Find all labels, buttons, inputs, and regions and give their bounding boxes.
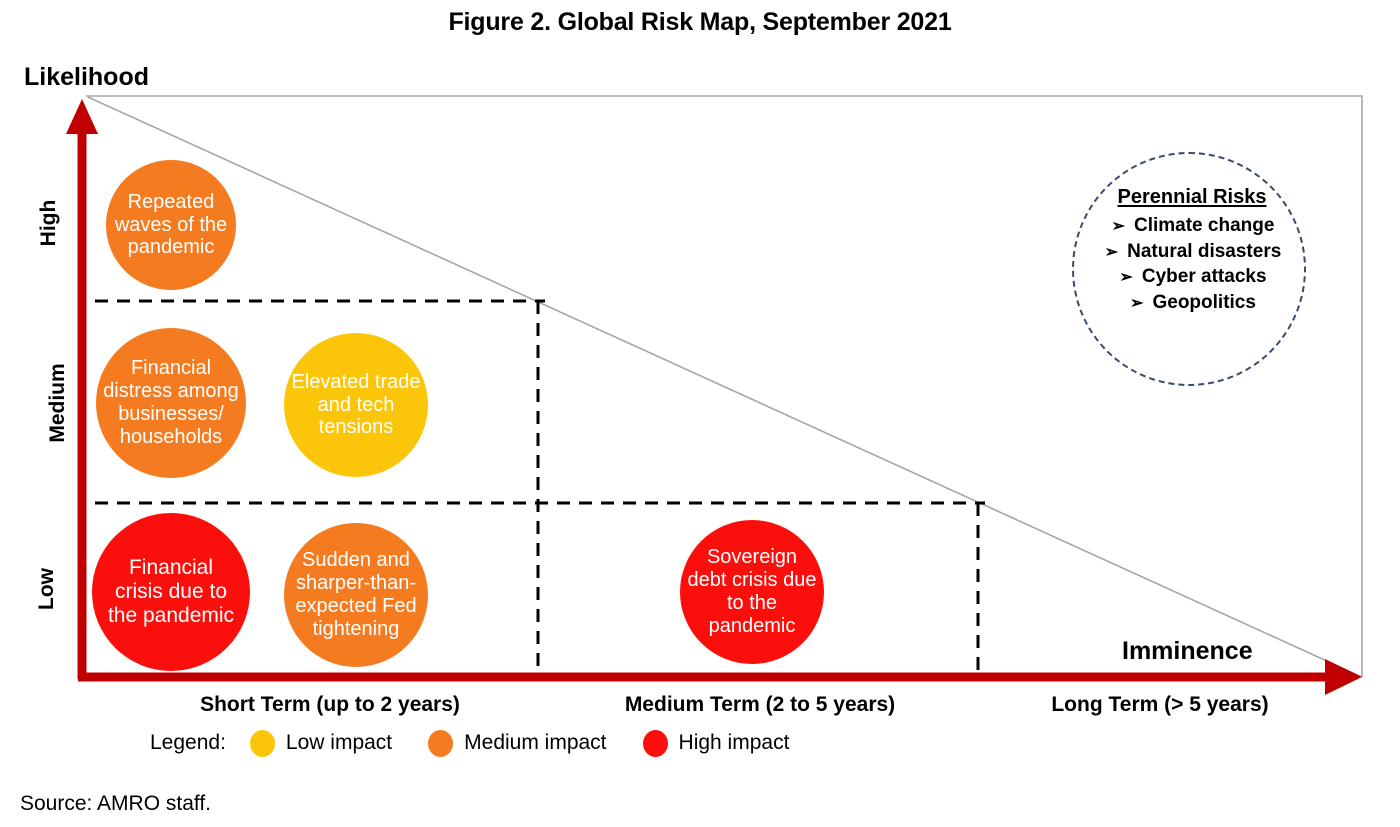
legend: Legend: Low impactMedium impactHigh impa… [150,727,825,759]
risk-bubble-financial-distress-among-businesses-households[interactable]: Financialdistress amongbusinesses/househ… [96,328,246,478]
x-axis-label-short-term: Short Term (up to 2 years) [110,693,550,717]
legend-color-swatch-icon [428,730,453,757]
y-axis-title: Likelihood [24,63,149,92]
y-axis-arrowhead [66,99,98,134]
legend-entry-label: High impact [679,731,790,755]
legend-entry: High impact [643,730,790,757]
legend-label: Legend: [150,731,226,755]
risk-bubble-financial-crisis-due-to-the-pandemic[interactable]: Financialcrisis due tothe pandemic [92,513,250,671]
legend-entry-label: Medium impact [464,731,606,755]
x-axis-arrowhead [1325,659,1362,695]
risk-map-figure: Figure 2. Global Risk Map, September 202… [0,0,1400,827]
risk-bubble-label: Sudden andsharper-than-expected Fedtight… [295,549,416,640]
risk-bubble-repeated-waves-of-the-pandemic[interactable]: Repeatedwaves of thepandemic [106,160,236,290]
arrow-bullet-icon: ➢ [1105,242,1118,264]
risk-bubble-elevated-trade-and-tech-tensions[interactable]: Elevated tradeand techtensions [284,333,428,477]
legend-entry: Low impact [250,730,392,757]
perennial-risk-item: ➢Natural disasters [1090,239,1296,265]
risk-bubble-label: Sovereigndebt crisis dueto thepandemic [688,546,817,637]
risk-bubble-label: Financialdistress amongbusinesses/househ… [103,357,239,448]
x-axis-title: Imminence [1122,637,1253,666]
arrow-bullet-icon: ➢ [1112,216,1125,238]
y-axis-label-medium: Medium [46,328,70,478]
perennial-risk-label: Cyber attacks [1142,264,1267,290]
x-axis-label-medium-term: Medium Term (2 to 5 years) [540,693,980,717]
source-note: Source: AMRO staff. [20,792,211,816]
arrow-bullet-icon: ➢ [1130,293,1143,315]
risk-bubble-label: Repeatedwaves of thepandemic [115,191,227,259]
legend-entry: Medium impact [428,730,606,757]
y-axis-label-high: High [37,163,61,283]
perennial-risk-item: ➢Geopolitics [1090,290,1296,316]
perennial-risk-item: ➢Climate change [1090,213,1296,239]
perennial-risk-item: ➢Cyber attacks [1090,264,1296,290]
legend-entries: Low impactMedium impactHigh impact [250,730,826,757]
x-axis-label-long-term: Long Term (> 5 years) [960,693,1360,717]
legend-entry-label: Low impact [286,731,392,755]
legend-color-swatch-icon [250,730,275,757]
y-axis-label-low: Low [35,529,59,649]
perennial-risk-label: Climate change [1134,213,1274,239]
risk-bubble-sovereign-debt-crisis-due-to-the-pandemic[interactable]: Sovereigndebt crisis dueto thepandemic [680,520,824,664]
arrow-bullet-icon: ➢ [1119,267,1132,289]
perennial-risks-title: Perennial Risks [1097,186,1287,209]
risk-bubble-label: Financialcrisis due tothe pandemic [108,556,234,628]
perennial-risks-list: ➢Climate change➢Natural disasters➢Cyber … [1090,213,1296,316]
risk-bubble-sudden-and-sharper-than-expected-fed-tightening[interactable]: Sudden andsharper-than-expected Fedtight… [284,523,428,667]
perennial-risk-label: Natural disasters [1127,239,1281,265]
legend-color-swatch-icon [643,730,668,757]
risk-bubble-label: Elevated tradeand techtensions [292,371,421,439]
perennial-risk-label: Geopolitics [1152,290,1255,316]
